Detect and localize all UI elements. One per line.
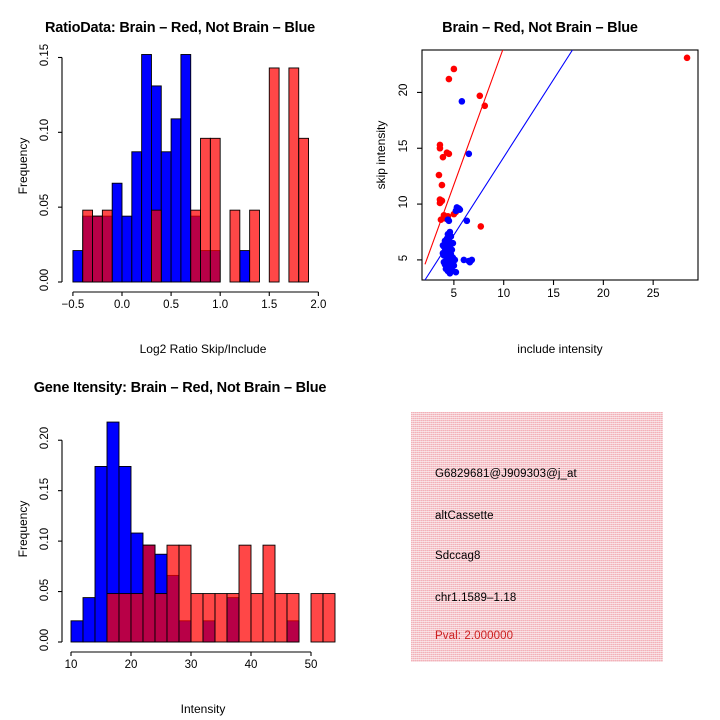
y-tick-label: 0.10 — [39, 113, 51, 147]
hist-bar — [299, 138, 309, 282]
hist-bar — [167, 545, 179, 642]
hist-bar — [210, 138, 220, 282]
gene-hist-xlabel: Intensity — [38, 702, 368, 716]
y-tick-label: 0.00 — [39, 263, 51, 297]
info-gene-symbol: Sdccag8 — [435, 550, 480, 562]
hist-bar — [250, 210, 260, 282]
hist-bar — [269, 68, 279, 282]
hist-bar — [275, 594, 287, 642]
scatter-xlabel: include intensity — [392, 342, 720, 356]
ratio-hist-xlabel: Log2 Ratio Skip/Include — [38, 342, 368, 356]
hist-bar — [83, 210, 93, 282]
hist-bar — [83, 598, 95, 642]
hist-bar — [263, 545, 275, 642]
info-probe-id: G6829681@J909303@j_at — [435, 468, 577, 480]
info-locus: chr1.1589–1.18 — [435, 592, 516, 604]
data-point — [445, 216, 452, 223]
data-point — [440, 154, 447, 161]
data-point — [441, 259, 448, 266]
hist-bar — [171, 119, 181, 282]
hist-bar — [142, 54, 152, 282]
data-point — [446, 151, 453, 158]
hist-bar — [215, 594, 227, 642]
hist-bar — [287, 594, 299, 642]
x-tick-label: −0.5 — [53, 299, 93, 311]
hist-bar — [131, 594, 143, 642]
hist-bar — [112, 183, 122, 282]
data-point — [481, 103, 488, 110]
info-pval: Pval: 2.000000 — [435, 630, 513, 642]
scatter-ylabel: skip intensity — [374, 100, 388, 210]
hist-bar — [71, 621, 83, 642]
x-tick-label: 5 — [434, 288, 474, 300]
data-point — [447, 270, 454, 277]
y-tick-label: 0.05 — [39, 188, 51, 222]
hist-bar — [161, 152, 171, 282]
y-tick-label: 0.15 — [39, 472, 51, 506]
ratio-hist-ylabel: Frequency — [16, 106, 30, 226]
data-point — [477, 223, 484, 230]
scatter: Brain – Red, Not Brain – Blueinclude int… — [360, 0, 720, 360]
hist-bar — [155, 594, 167, 642]
data-point — [684, 55, 691, 62]
y-tick-label: 10 — [398, 190, 410, 214]
data-point — [453, 269, 460, 276]
hist-bar — [93, 216, 103, 282]
x-tick-label: 30 — [171, 659, 211, 671]
hist-bar — [73, 251, 83, 282]
x-tick-label: 10 — [51, 659, 91, 671]
data-point — [467, 259, 474, 266]
hist-bar — [102, 210, 112, 282]
y-tick-label: 0.00 — [39, 623, 51, 657]
x-tick-label: 0.5 — [151, 299, 191, 311]
info-event-type: altCassette — [435, 510, 494, 522]
data-point — [459, 98, 466, 105]
data-point — [436, 172, 443, 179]
hist-bar — [151, 210, 161, 282]
hist-bar — [191, 210, 201, 282]
info-panel: G6829681@J909303@j_ataltCassetteSdccag8c… — [411, 412, 663, 662]
data-point — [464, 218, 471, 225]
x-tick-label: 1.5 — [249, 299, 289, 311]
data-point — [476, 92, 483, 99]
y-tick-label: 20 — [398, 78, 410, 102]
data-point — [440, 242, 447, 249]
data-point — [440, 250, 447, 257]
y-tick-label: 0.10 — [39, 522, 51, 556]
x-tick-label: 40 — [231, 659, 271, 671]
data-point — [446, 76, 453, 83]
hist-bar — [240, 251, 250, 282]
hist-bar — [95, 466, 107, 642]
hist-bar — [181, 54, 191, 282]
x-tick-label: 10 — [484, 288, 524, 300]
hist-bar — [201, 138, 211, 282]
data-point — [451, 66, 458, 73]
hist-bar — [239, 545, 251, 642]
x-tick-label: 1.0 — [200, 299, 240, 311]
x-tick-label: 2.0 — [298, 299, 338, 311]
scatter-points-red — [436, 55, 691, 250]
hist-bar — [227, 594, 239, 642]
x-tick-label: 0.0 — [102, 299, 142, 311]
data-point — [439, 182, 446, 189]
hist-bar — [230, 210, 240, 282]
y-tick-label: 15 — [398, 134, 410, 158]
data-point — [437, 145, 444, 152]
scatter-plot-area — [360, 0, 720, 360]
y-tick-label: 0.20 — [39, 421, 51, 455]
info-panel-texture — [411, 412, 663, 662]
data-point — [466, 151, 473, 158]
hist-bar — [107, 594, 119, 642]
hist-bar — [119, 594, 131, 642]
hist-bar — [311, 594, 323, 642]
hist-bar — [191, 594, 203, 642]
hist-bar — [132, 152, 142, 282]
hist-bar — [323, 594, 335, 642]
hist-bar — [289, 68, 299, 282]
y-tick-label: 0.05 — [39, 573, 51, 607]
x-tick-label: 25 — [633, 288, 673, 300]
x-tick-label: 15 — [534, 288, 574, 300]
x-tick-label: 20 — [111, 659, 151, 671]
brain-fit — [425, 50, 503, 264]
x-tick-label: 50 — [291, 659, 331, 671]
figure-canvas: RatioData: Brain – Red, Not Brain – Blue… — [0, 0, 720, 720]
scatter-points-blue — [440, 98, 476, 277]
data-point — [453, 207, 460, 214]
hist-bar — [122, 216, 132, 282]
hist-bar — [179, 545, 191, 642]
y-tick-label: 0.15 — [39, 38, 51, 72]
y-tick-label: 5 — [398, 246, 410, 270]
data-point — [437, 200, 444, 207]
hist-bar — [143, 545, 155, 642]
scatter-frame — [422, 50, 698, 280]
gene-hist-ylabel: Frequency — [16, 469, 30, 589]
x-tick-label: 20 — [583, 288, 623, 300]
hist-bar — [251, 594, 263, 642]
hist-bar — [203, 594, 215, 642]
